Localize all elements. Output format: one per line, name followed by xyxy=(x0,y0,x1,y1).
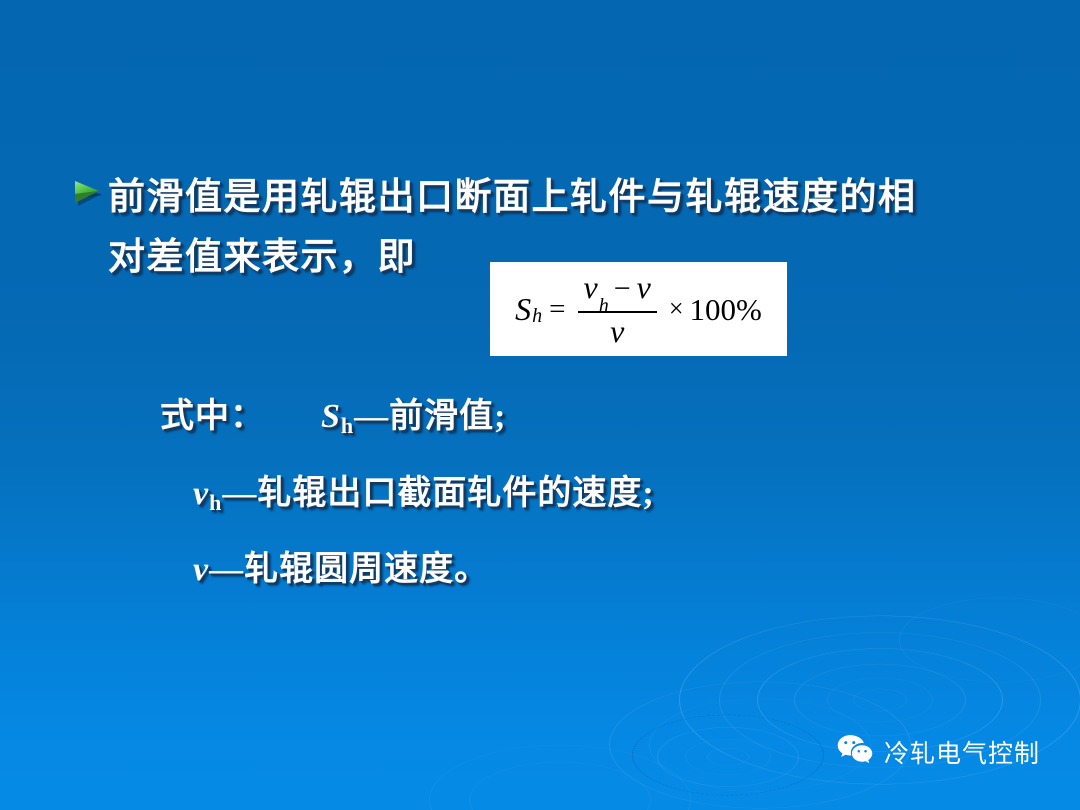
where-line3-symbol: v xyxy=(193,551,209,588)
ripple-ring xyxy=(707,748,749,766)
ripple-ring xyxy=(469,762,651,810)
bullet-line-2: 对差值来表示，即 xyxy=(108,237,416,278)
numerator-sub-1: h xyxy=(599,295,609,317)
formula-equals: = xyxy=(549,295,565,324)
ripple-ring-dark xyxy=(632,715,824,796)
formula-lhs-subscript: h xyxy=(532,306,542,326)
wechat-logo-icon xyxy=(836,733,874,770)
formula-lhs-variable: S xyxy=(515,293,531,325)
formula-denominator: v xyxy=(604,313,630,347)
numerator-var-1: v xyxy=(584,269,598,305)
where-line1-text: —前滑值; xyxy=(354,398,506,435)
formula-fraction: vh−v v xyxy=(578,271,657,347)
ripple-ring xyxy=(899,598,1080,683)
numerator-var-2: v xyxy=(637,269,651,305)
numerator-minus: − xyxy=(614,272,631,305)
where-clause-line-1: 式中：Sh—前滑值; xyxy=(160,400,507,434)
formula-percent: 100% xyxy=(690,294,762,325)
bullet-line-1: 前滑值是用轧辊出口断面上轧件与轧辊速度的相 xyxy=(108,177,917,218)
where-line2-symbol: v xyxy=(193,475,209,512)
where-clause-line-3: v—轧辊圆周速度。 xyxy=(193,553,489,587)
ripple-ring xyxy=(794,664,966,736)
forward-slip-formula: Sh = vh−v v × 100% xyxy=(515,271,762,347)
where-line1-symbol: S xyxy=(321,398,341,435)
formula-numerator: vh−v xyxy=(578,271,657,311)
ripple-ring xyxy=(853,689,907,712)
where-label: 式中： xyxy=(160,398,265,435)
where-line1-subscript: h xyxy=(341,413,354,438)
ripple-ring xyxy=(685,739,771,775)
ripple-ring xyxy=(827,678,933,723)
where-line2-text: —轧辊出口截面轧件的速度; xyxy=(222,475,654,512)
where-clause-line-2: vh—轧辊出口截面轧件的速度; xyxy=(193,477,655,511)
where-line2-subscript: h xyxy=(209,490,222,515)
ripple-ring xyxy=(657,727,799,787)
formula-box: Sh = vh−v v × 100% xyxy=(490,262,787,356)
watermark: 冷轧电气控制 xyxy=(836,733,1040,770)
presentation-slide: 前滑值是用轧辊出口断面上轧件与轧辊速度的相 对差值来表示，即 Sh = vh−v… xyxy=(0,0,1080,810)
green-arrow-bullet-icon xyxy=(72,178,108,224)
where-line3-text: —轧辊圆周速度。 xyxy=(209,551,489,588)
formula-times: × xyxy=(669,296,684,322)
ripple-ring xyxy=(429,745,691,810)
watermark-text: 冷轧电气控制 xyxy=(884,734,1040,770)
